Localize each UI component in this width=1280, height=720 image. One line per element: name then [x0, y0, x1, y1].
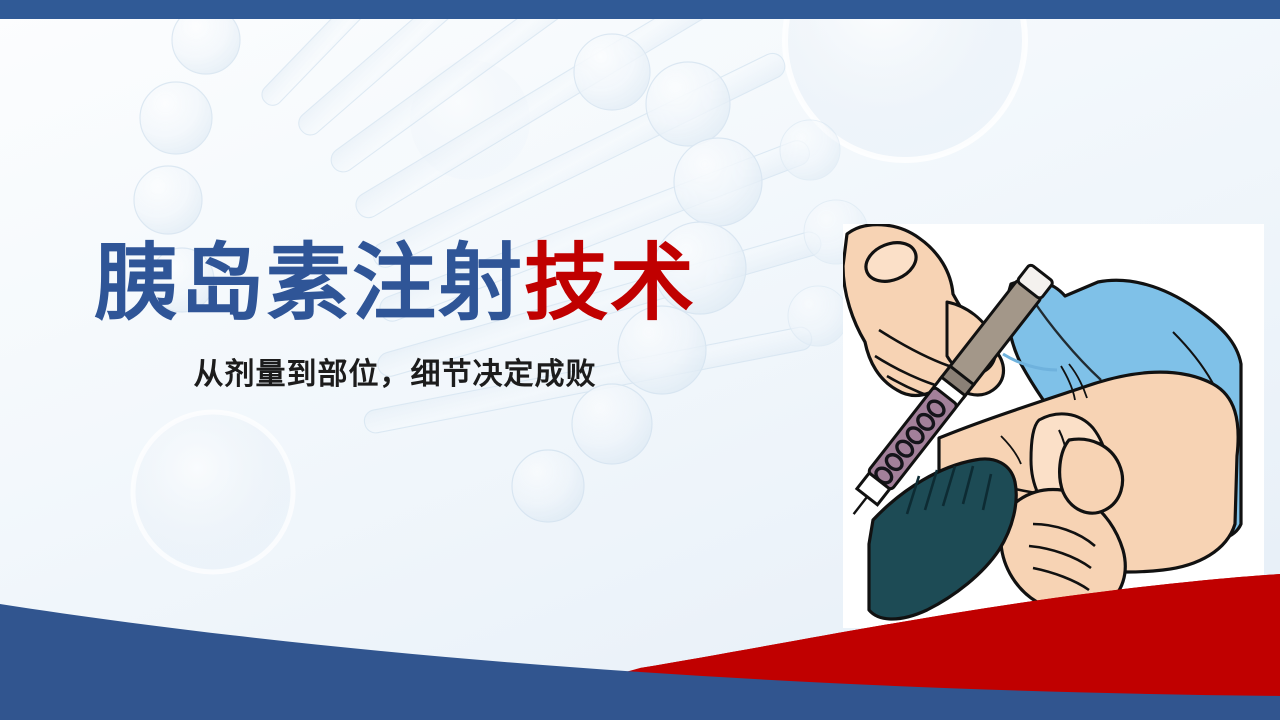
- presentation-slide: 胰岛素注射技术 从剂量到部位，细节决定成败: [0, 0, 1280, 720]
- title-block: 胰岛素注射技术 从剂量到部位，细节决定成败: [0, 243, 790, 393]
- page-title: 胰岛素注射技术: [0, 243, 790, 327]
- insulin-injection-illustration: [843, 224, 1264, 628]
- page-subtitle: 从剂量到部位，细节决定成败: [0, 327, 790, 393]
- title-primary-text: 胰岛素注射: [94, 238, 524, 331]
- top-accent-bar: [0, 0, 1280, 19]
- illustration-svg: [843, 224, 1264, 628]
- title-accent-text: 技术: [524, 238, 696, 331]
